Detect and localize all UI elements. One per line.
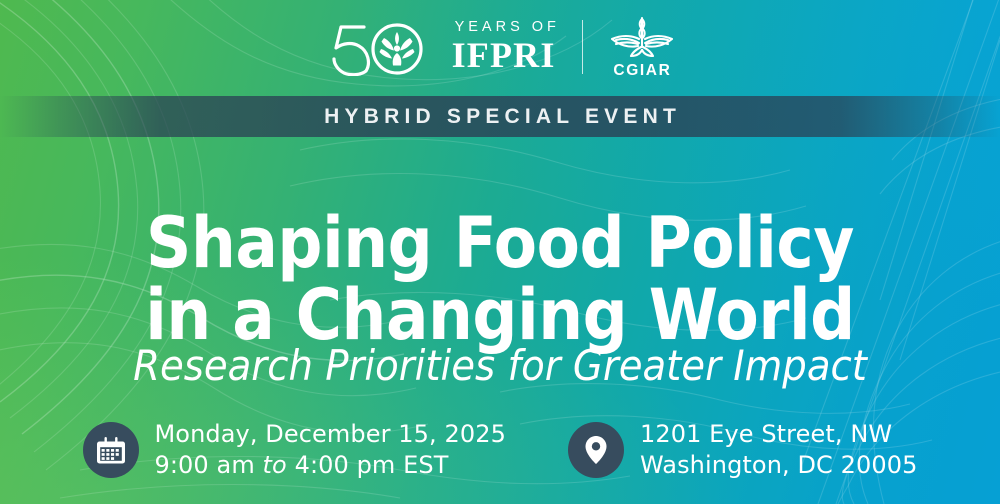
event-time-end: 4:00 pm EST [295,451,449,479]
logo-divider [582,20,584,74]
event-type-label: HYBRID SPECIAL EVENT [319,105,681,129]
event-date: Monday, December 15, 2025 [155,419,506,450]
ifpri-wordmark: YEARS OF IFPRI [452,20,560,74]
event-date-block: Monday, December 15, 2025 9:00 am to 4:0… [83,419,506,481]
ifpri-logo: YEARS OF IFPRI [321,18,560,76]
event-location-text: 1201 Eye Street, NW Washington, DC 20005 [640,419,918,481]
cgiar-name: CGIAR [613,62,671,80]
event-time-start: 9:00 am [155,451,255,479]
logo-row: YEARS OF IFPRI [0,13,1000,80]
ifpri-50-anniversary-mark [321,18,443,76]
calendar-icon [83,422,139,478]
event-time-connector: to [263,451,287,479]
event-type-bar: HYBRID SPECIAL EVENT [0,96,1000,137]
page-title: Shaping Food Policy in a Changing World [50,207,950,351]
cgiar-wheat-wings-icon [605,13,679,59]
event-banner: YEARS OF IFPRI [0,0,1000,504]
event-address-line-2: Washington, DC 20005 [640,450,918,481]
subtitle: Research Priorities for Greater Impact [40,341,960,390]
event-date-text: Monday, December 15, 2025 9:00 am to 4:0… [155,419,506,481]
event-address-line-1: 1201 Eye Street, NW [640,419,918,450]
map-pin-icon [568,422,624,478]
headline-line-1: Shaping Food Policy [50,207,950,279]
ifpri-years-of-label: YEARS OF [452,20,560,35]
cgiar-logo: CGIAR [605,13,679,80]
ifpri-name: IFPRI [452,37,556,73]
event-location-block: 1201 Eye Street, NW Washington, DC 20005 [568,419,918,481]
event-details-row: Monday, December 15, 2025 9:00 am to 4:0… [0,419,1000,481]
event-time: 9:00 am to 4:00 pm EST [155,450,506,481]
